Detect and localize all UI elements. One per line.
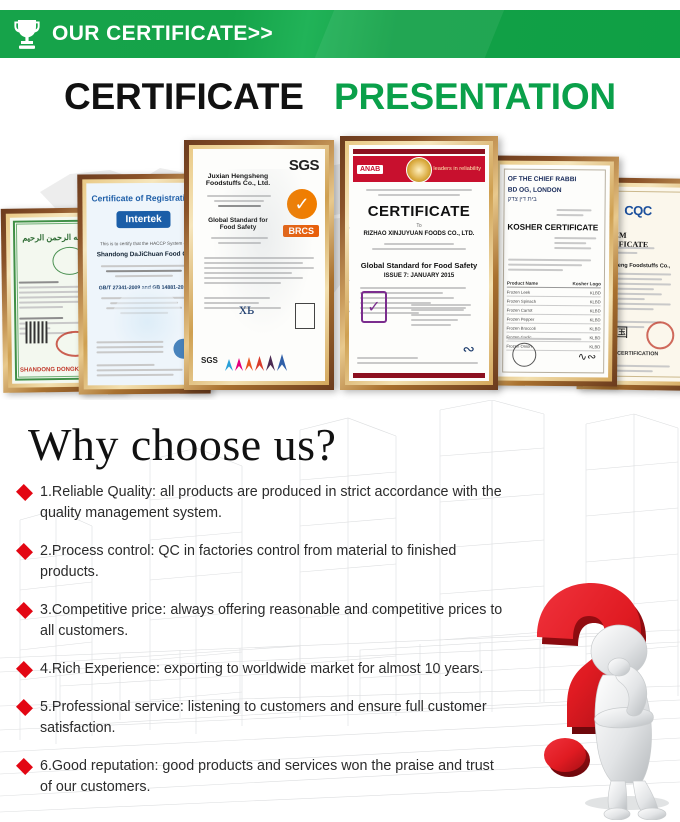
list-item: 5.Professional service: listening to cus…	[18, 697, 508, 739]
list-item: 4.Rich Experience: exporting to worldwid…	[18, 659, 508, 680]
list-item-text: 4.Rich Experience: exporting to worldwid…	[40, 659, 483, 680]
certificate-frame-inner: ANAB leaders in reliability CERTIFICATE …	[345, 141, 493, 385]
sgs-bird-strip-icon	[225, 354, 287, 371]
brc-issue: ISSUE 7: JANUARY 2015	[349, 273, 489, 279]
diamond-bullet-icon	[16, 758, 33, 775]
list-item: 1.Reliable Quality: all products are pro…	[18, 482, 508, 524]
certificate-frame-inner: OF THE CHIEF RABBI BD OG, LONDON בית דין…	[494, 160, 614, 381]
kosher-location: BD OG, LONDON	[508, 186, 602, 196]
diamond-bullet-icon	[16, 602, 33, 619]
page-title-part1: CERTIFICATE	[64, 76, 304, 117]
brc-bottom-rule	[353, 373, 485, 378]
header-title: OUR CERTIFICATE>>	[52, 10, 273, 58]
list-item-text: 5.Professional service: listening to cus…	[40, 697, 508, 739]
list-item: 3.Competitive price: always offering rea…	[18, 600, 508, 642]
brc-company: RIZHAO XINJUYUAN FOODS CO., LTD.	[349, 231, 489, 237]
brc-top-rule	[353, 149, 485, 154]
sgs-signature: xь	[239, 301, 254, 319]
question-mark-thinking-figure-icon	[515, 575, 680, 820]
brc-certificate-title: CERTIFICATE	[349, 203, 489, 220]
ukas-mark-icon	[295, 303, 315, 329]
certificate-card-brc-global[interactable]: ANAB leaders in reliability CERTIFICATE …	[340, 136, 498, 390]
kosher-seal-icon	[512, 343, 536, 367]
trophy-icon	[0, 10, 52, 58]
brc-purple-tick-icon: ✓	[361, 291, 387, 323]
list-item-text: 2.Process control: QC in factories contr…	[40, 541, 508, 583]
section-header-bar: OUR CERTIFICATE>>	[0, 10, 680, 58]
certificate-frame-inner: SGS Juxian Hengsheng Foodstuffs Co., Ltd…	[189, 145, 329, 385]
brc-headline: Global Standard for Food Safety	[349, 261, 489, 270]
diamond-bullet-icon	[16, 661, 33, 678]
brc-banner-tagline: leaders in reliability	[433, 166, 481, 173]
why-choose-us-title: Why choose us?	[28, 418, 336, 471]
brc-side-tagline: integrity · compliance · reliability	[349, 226, 350, 324]
list-item: 2.Process control: QC in factories contr…	[18, 541, 508, 583]
certificate-card-kosher[interactable]: OF THE CHIEF RABBI BD OG, LONDON בית דין…	[489, 155, 619, 386]
cqc-logo: CQC	[624, 203, 652, 218]
diamond-bullet-icon	[16, 484, 33, 501]
kosher-hebrew: בית דין צדק	[508, 197, 537, 203]
page-title-part2: PRESENTATION	[334, 76, 616, 117]
list-item: 6.Good reputation: good products and ser…	[18, 756, 508, 798]
intertek-logo: Intertek	[116, 211, 170, 228]
kosher-title: KOSHER CERTIFICATE	[507, 223, 598, 233]
page-title: CERTIFICATE PRESENTATION	[0, 76, 680, 118]
certificate-paper: SGS Juxian Hengsheng Foodstuffs Co., Ltd…	[193, 149, 325, 381]
certificate-card-sgs[interactable]: SGS Juxian Hengsheng Foodstuffs Co., Ltd…	[184, 140, 334, 390]
why-choose-us-section: Why choose us? 1.Reliable Quality: all p…	[0, 400, 680, 822]
certificate-paper: OF THE CHIEF RABBI BD OG, LONDON בית דין…	[498, 165, 610, 378]
diamond-bullet-icon	[16, 699, 33, 716]
list-item-text: 3.Competitive price: always offering rea…	[40, 600, 508, 642]
sgs-footer-logo: SGS	[201, 356, 218, 365]
kosher-signature: ∿∾	[578, 350, 597, 363]
diamond-bullet-icon	[16, 543, 33, 560]
kosher-authority: OF THE CHIEF RABBI	[508, 175, 602, 185]
brc-rosette-icon	[406, 157, 432, 183]
list-item-text: 1.Reliable Quality: all products are pro…	[40, 482, 508, 524]
halal-qr-code-icon	[25, 321, 47, 343]
certificate-paper: ANAB leaders in reliability CERTIFICATE …	[349, 145, 489, 381]
certificate-presentation-page: OUR CERTIFICATE>> CERTIFICATE PRESENTATI…	[0, 0, 680, 822]
why-choose-us-list: 1.Reliable Quality: all products are pro…	[18, 482, 508, 815]
certificate-gallery: بسم الله الرحمن الرحيم SHANDONG DONGKETA…	[0, 122, 680, 400]
anab-logo: ANAB	[357, 165, 383, 174]
list-item-text: 6.Good reputation: good products and ser…	[40, 756, 508, 798]
